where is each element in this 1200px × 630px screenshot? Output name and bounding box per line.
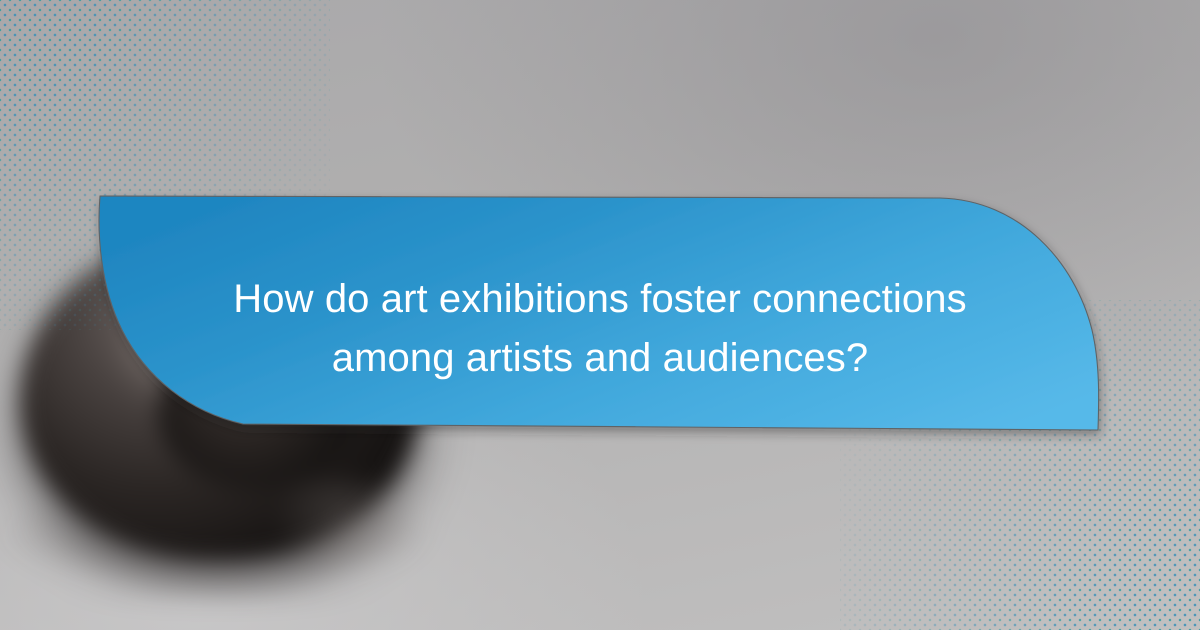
headline-text: How do art exhibitions foster connection…: [150, 270, 1050, 388]
social-card-canvas: How do art exhibitions foster connection…: [0, 0, 1200, 630]
